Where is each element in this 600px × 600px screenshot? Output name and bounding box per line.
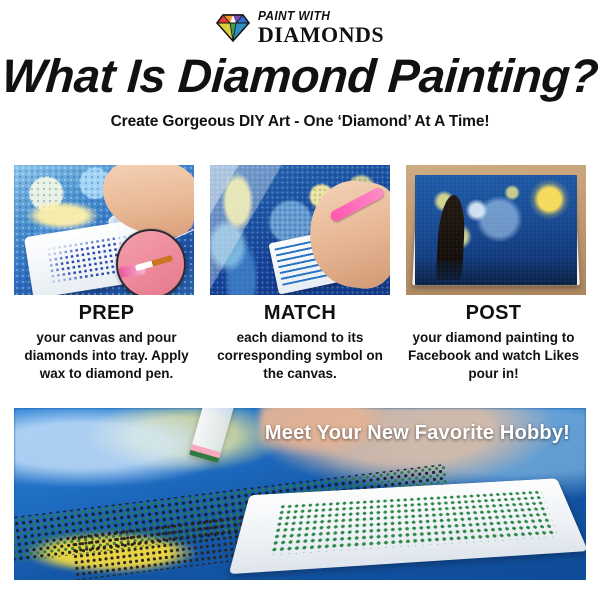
hero-banner: Meet Your New Favorite Hobby! bbox=[14, 408, 586, 580]
step-title-match: MATCH bbox=[206, 302, 394, 325]
step-photo-post bbox=[406, 165, 586, 295]
banner-title: Meet Your New Favorite Hobby! bbox=[265, 422, 570, 445]
post-diamond-sparkle bbox=[415, 175, 577, 284]
step-caption-row: PREP your canvas and pour diamonds into … bbox=[14, 302, 586, 382]
step-photo-row bbox=[14, 165, 586, 295]
brand-logo: PAINT WITH DIAMONDS bbox=[0, 0, 600, 46]
step-photo-prep bbox=[14, 165, 194, 295]
post-finished-painting bbox=[415, 175, 577, 284]
infographic-page: PAINT WITH DIAMONDS What Is Diamond Pain… bbox=[0, 0, 600, 600]
brand-line-diamonds: DIAMONDS bbox=[258, 24, 384, 46]
step-title-prep: PREP bbox=[14, 302, 199, 325]
prep-canvas-highlight bbox=[25, 201, 101, 230]
step-photo-match bbox=[210, 165, 390, 295]
brand-wordmark: PAINT WITH DIAMONDS bbox=[258, 10, 384, 46]
prep-inset-pen-tip bbox=[135, 255, 173, 271]
brand-line-paint-with: PAINT WITH bbox=[258, 10, 378, 23]
page-title: What Is Diamond Painting? bbox=[0, 52, 600, 99]
step-body-prep: your canvas and pour diamonds into tray.… bbox=[14, 329, 199, 382]
step-body-match: each diamond to its corresponding symbol… bbox=[206, 329, 394, 382]
step-body-post: your diamond painting to Facebook and wa… bbox=[401, 329, 586, 382]
step-title-post: POST bbox=[401, 302, 586, 325]
prep-wax-inset bbox=[116, 229, 186, 295]
step-caption-prep: PREP your canvas and pour diamonds into … bbox=[14, 302, 199, 382]
diamond-gem-icon bbox=[216, 13, 250, 43]
step-caption-match: MATCH each diamond to its corresponding … bbox=[206, 302, 394, 382]
step-caption-post: POST your diamond painting to Facebook a… bbox=[401, 302, 586, 382]
page-subtitle: Create Gorgeous DIY Art - One ‘Diamond’ … bbox=[0, 113, 600, 131]
